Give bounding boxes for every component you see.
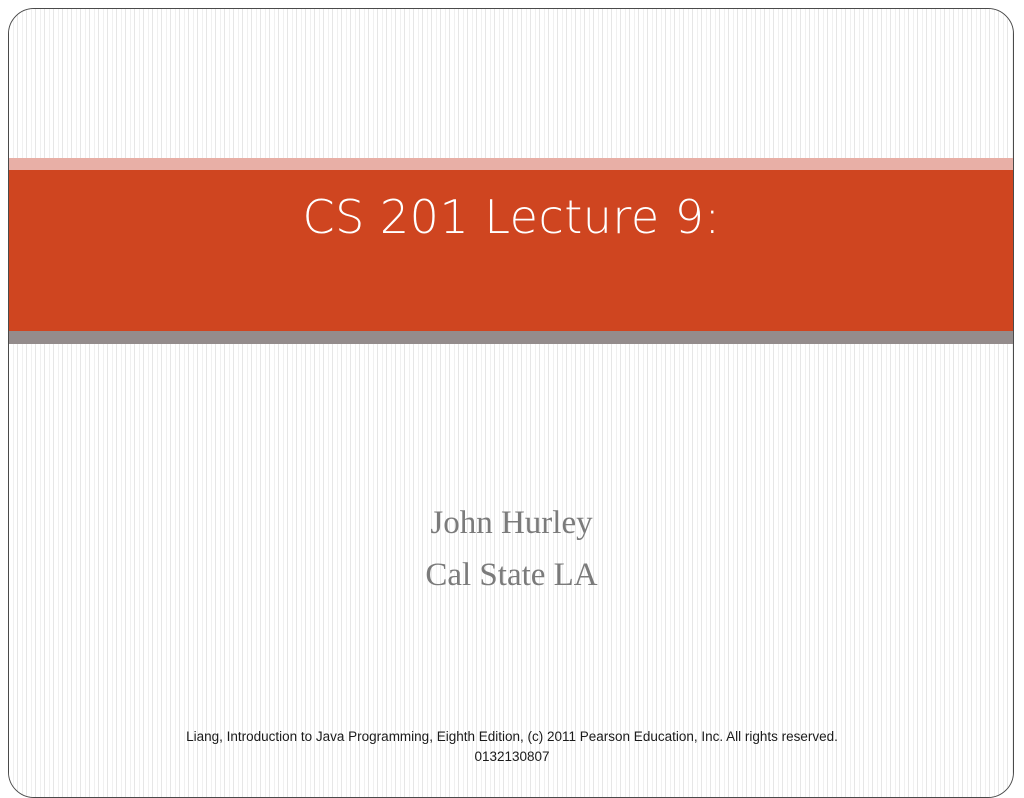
title-band-accent-gray [9, 331, 1013, 344]
title-band-accent-pink [9, 158, 1013, 170]
footer-line-1: Liang, Introduction to Java Programming,… [186, 729, 741, 744]
subtitle-line-author: John Hurley [9, 497, 1014, 549]
subtitle-line-institution: Cal State LA [9, 549, 1014, 601]
presentation-slide: CS 201 Lecture 9: John Hurley Cal State … [8, 8, 1014, 798]
pinstripe-background-pattern [9, 9, 1013, 797]
slide-footer-citation: Liang, Introduction to Java Programming,… [159, 727, 865, 767]
slide-subtitle: John Hurley Cal State LA [9, 497, 1014, 601]
slide-title: CS 201 Lecture 9: [9, 191, 1014, 244]
